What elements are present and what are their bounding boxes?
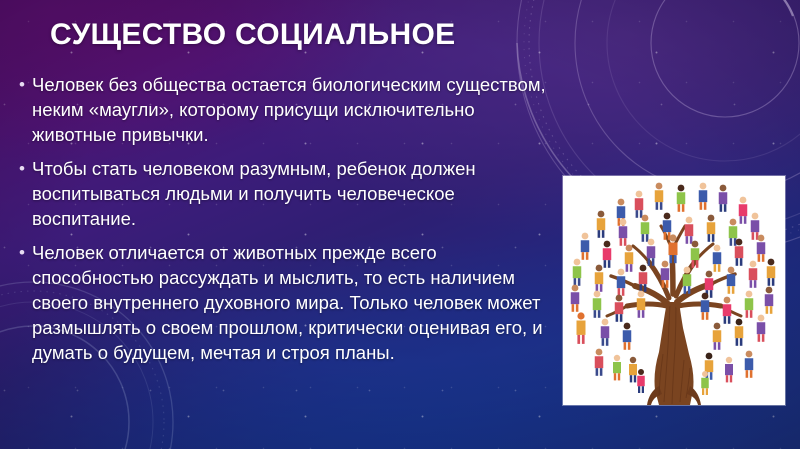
bullet-text: Чтобы стать человеком разумным, ребенок … [32, 156, 554, 231]
slide-title: СУЩЕСТВО СОЦИАЛЬНОЕ [50, 17, 570, 53]
list-item: • Чтобы стать человеком разумным, ребено… [14, 156, 554, 231]
slide-canvas: СУЩЕСТВО СОЦИАЛЬНОЕ • Человек без общест… [0, 0, 800, 449]
people-tree-graphic [563, 176, 785, 405]
bullet-dot-icon: • [14, 72, 32, 97]
bullet-dot-icon: • [14, 156, 32, 181]
list-item: • Человек без общества остается биологич… [14, 72, 554, 147]
people-tree-illustration [563, 176, 785, 405]
list-item: • Человек отличается от животных прежде … [14, 240, 554, 365]
bullet-list: • Человек без общества остается биологич… [14, 72, 554, 374]
bullet-dot-icon: • [14, 240, 32, 265]
bullet-text: Человек без общества остается биологичес… [32, 72, 554, 147]
bullet-text: Человек отличается от животных прежде вс… [32, 240, 554, 365]
